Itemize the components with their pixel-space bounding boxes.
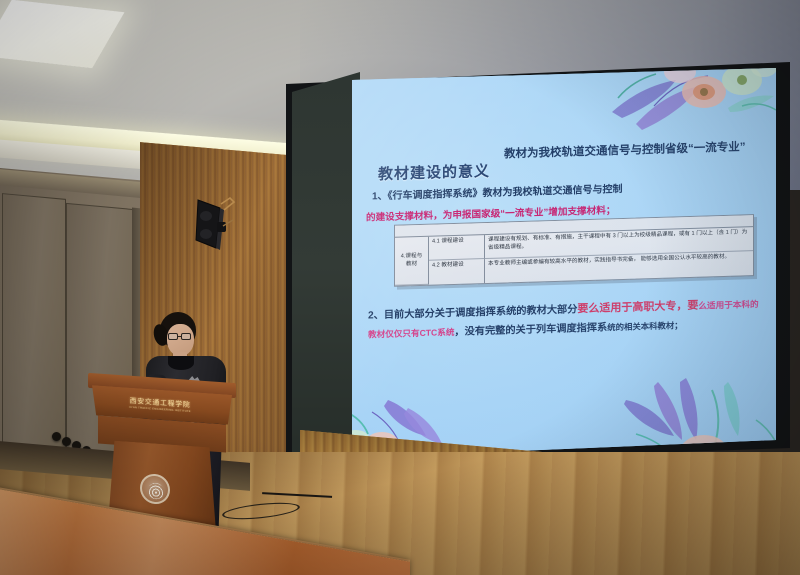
- para2-seg-normal-1: 2、目前大部分关于调度指挥系统的教材大部分: [368, 304, 577, 321]
- para2-seg-pink: 要么适用于高职大专，要: [577, 300, 698, 316]
- slide-content: 教材为我校轨道交通信号与控制省级“一流专业” 教材建设的意义 1、《行车调度指挥…: [352, 68, 776, 458]
- door-left[interactable]: [2, 193, 66, 461]
- para2-seg-normal-2: ，没有完整的关于列车调度指挥系: [454, 322, 607, 338]
- lecture-hall-photo: 教材为我校轨道交通信号与控制省级“一流专业” 教材建设的意义 1、《行车调度指挥…: [0, 0, 800, 575]
- door-handle-icon[interactable]: [52, 432, 61, 441]
- slide-paragraph-1-line1: 1、《行车调度指挥系统》教材为我校轨道交通信号与控制: [372, 180, 623, 202]
- slide-embedded-table: 4.课程与教材 4.1 课程建设 课程建设有规划、有标准、有措施，主干课程中有 …: [394, 214, 754, 287]
- table-row-code: 4.2 教材建设: [429, 259, 485, 285]
- glasses-icon: [168, 333, 194, 341]
- slide-header-line: 教材为我校轨道交通信号与控制省级“一流专业”: [504, 138, 746, 161]
- presenter-collar: [168, 356, 194, 370]
- table-merged-cell: 4.课程与教材: [395, 237, 429, 286]
- slide-paragraph-2: 2、目前大部分关于调度指挥系统的教材大部分要么适用于高职大专，要么适用于本科的教…: [368, 294, 764, 346]
- door-handle-icon[interactable]: [62, 437, 71, 446]
- slide-title: 教材建设的意义: [378, 160, 490, 184]
- table-row-code: 4.1 课程建设: [429, 235, 485, 261]
- projected-slide[interactable]: 教材为我校轨道交通信号与控制省级“一流专业” 教材建设的意义 1、《行车调度指挥…: [352, 68, 776, 458]
- para2-seg-small: 统的相关本科教材；: [607, 320, 682, 332]
- unlit-screen-panel: [292, 72, 360, 458]
